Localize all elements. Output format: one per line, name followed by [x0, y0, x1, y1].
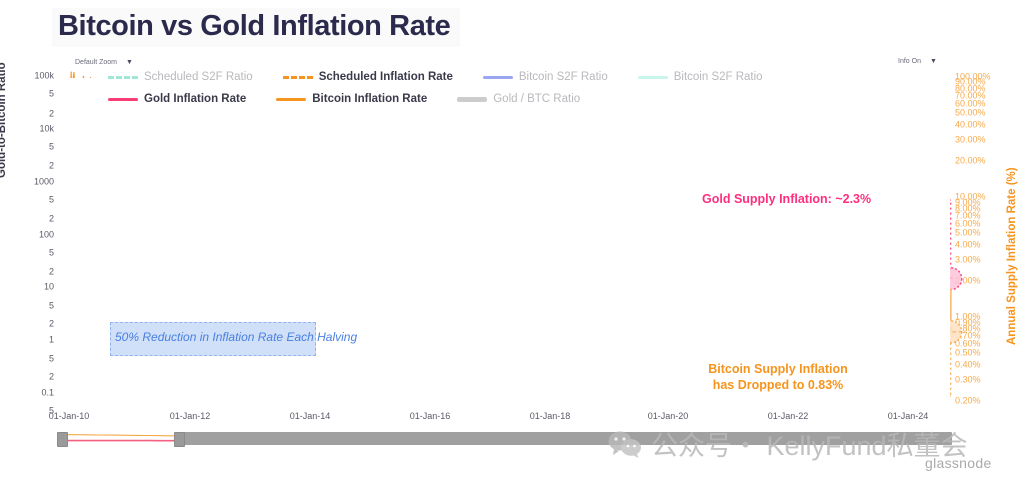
glassnode-logo: glassnode: [925, 455, 992, 471]
plot-area[interactable]: [60, 78, 950, 408]
y-left-tick: 5: [49, 143, 54, 152]
y-left-tick: 2: [49, 373, 54, 382]
y-axis-right-ticks: 100.00%90.00%80.00%70.00%60.00%50.00%40.…: [955, 78, 1015, 408]
chart-legend: Scheduled S2F RatioScheduled Inflation R…: [108, 68, 938, 112]
annotation-halving: 50% Reduction in Inflation Rate Each Hal…: [110, 322, 316, 356]
chart-page: Bitcoin vs Gold Inflation Rate glassnode…: [0, 0, 1024, 480]
y-left-tick: 5: [49, 196, 54, 205]
legend-item-bitcoin-s2f-ratio[interactable]: Bitcoin S2F Ratio: [638, 68, 763, 86]
y-left-tick: 10k: [39, 125, 54, 134]
legend-label: Gold / BTC Ratio: [493, 93, 580, 105]
chevron-down-icon: ▼: [930, 58, 937, 65]
legend-label: Gold Inflation Rate: [144, 93, 246, 105]
default-zoom-dropdown[interactable]: Default Zoom ▼: [70, 56, 138, 69]
y-left-tick: 10: [44, 283, 54, 292]
y-right-tick: 0.20%: [955, 397, 981, 406]
x-axis-tick: 01-Jan-24: [888, 412, 929, 421]
legend-swatch-icon: [483, 76, 513, 79]
y-right-tick: 30.00%: [955, 135, 986, 144]
x-axis-tick: 01-Jan-14: [290, 412, 331, 421]
y-left-tick: 2: [49, 110, 54, 119]
default-zoom-label: Default Zoom: [75, 59, 117, 66]
y-left-tick: 0.1: [41, 389, 54, 398]
chevron-down-icon: ▼: [126, 59, 133, 66]
legend-label: Bitcoin Inflation Rate: [312, 93, 427, 105]
legend-swatch-icon: [108, 76, 138, 79]
y-left-tick: 1: [49, 336, 54, 345]
legend-item-scheduled-inflation-rate[interactable]: Scheduled Inflation Rate: [283, 68, 453, 86]
y-right-tick: 5.00%: [955, 229, 981, 238]
y-right-tick: 50.00%: [955, 109, 986, 118]
y-right-tick: 3.00%: [955, 255, 981, 264]
legend-swatch-icon: [638, 76, 668, 79]
legend-swatch-icon: [108, 98, 138, 101]
page-title: Bitcoin vs Gold Inflation Rate: [52, 8, 460, 47]
navigator-handle-right[interactable]: [174, 432, 185, 447]
legend-swatch-icon: [283, 76, 313, 79]
wechat-watermark-text: 公众号・ KellyFund私董会: [651, 424, 968, 463]
y-left-tick: 5: [49, 249, 54, 258]
legend-label: Bitcoin S2F Ratio: [674, 71, 763, 83]
y-left-tick: 100: [39, 231, 54, 240]
y-left-tick: 5: [49, 90, 54, 99]
navigator-handle-left[interactable]: [57, 432, 68, 447]
y-right-tick: 0.30%: [955, 375, 981, 384]
y-left-tick: 1000: [34, 178, 54, 187]
y-right-tick: 0.40%: [955, 360, 981, 369]
y-left-tick: 2: [49, 162, 54, 171]
y-right-tick: 0.50%: [955, 349, 981, 358]
legend-item-scheduled-s2f-ratio[interactable]: Scheduled S2F Ratio: [108, 68, 253, 86]
wechat-icon: [608, 430, 642, 458]
legend-label: Scheduled Inflation Rate: [319, 71, 453, 83]
info-on-label: Info On: [898, 58, 921, 65]
y-left-tick: 5: [49, 355, 54, 364]
annotation-gold-supply: Gold Supply Inflation: ~2.3%: [702, 192, 871, 206]
x-axis-tick: 01-Jan-20: [648, 412, 689, 421]
legend-item-gold-btc-ratio[interactable]: Gold / BTC Ratio: [457, 90, 580, 108]
y-right-tick: 40.00%: [955, 120, 986, 129]
legend-item-bitcoin-s2f-ratio[interactable]: Bitcoin S2F Ratio: [483, 68, 608, 86]
legend-label: Bitcoin S2F Ratio: [519, 71, 608, 83]
x-axis-tick: 01-Jan-12: [170, 412, 211, 421]
legend-swatch-icon: [276, 98, 306, 101]
x-axis-tick: 01-Jan-10: [49, 412, 90, 421]
x-axis-tick: 01-Jan-16: [410, 412, 451, 421]
y-right-tick: 20.00%: [955, 156, 986, 165]
x-axis-tick: 01-Jan-22: [768, 412, 809, 421]
y-left-tick: 2: [49, 268, 54, 277]
annotation-bitcoin-supply: Bitcoin Supply Inflation has Dropped to …: [703, 362, 853, 393]
legend-swatch-icon: [457, 97, 487, 102]
info-on-dropdown[interactable]: Info On ▼: [893, 55, 942, 68]
y-left-tick: 2: [49, 215, 54, 224]
y-left-tick: 5: [49, 302, 54, 311]
x-axis-tick: 01-Jan-18: [530, 412, 571, 421]
wechat-watermark: 公众号・ KellyFund私董会: [608, 424, 968, 463]
y-left-tick: 100k: [34, 72, 54, 81]
legend-item-bitcoin-inflation-rate[interactable]: Bitcoin Inflation Rate: [276, 90, 427, 108]
legend-item-gold-inflation-rate[interactable]: Gold Inflation Rate: [108, 90, 246, 108]
y-axis-left-ticks: 100k5210k521000521005210521520.15: [0, 78, 54, 408]
plot-background: [60, 78, 950, 408]
legend-label: Scheduled S2F Ratio: [144, 71, 253, 83]
y-left-tick: 2: [49, 320, 54, 329]
y-right-tick: 4.00%: [955, 240, 981, 249]
